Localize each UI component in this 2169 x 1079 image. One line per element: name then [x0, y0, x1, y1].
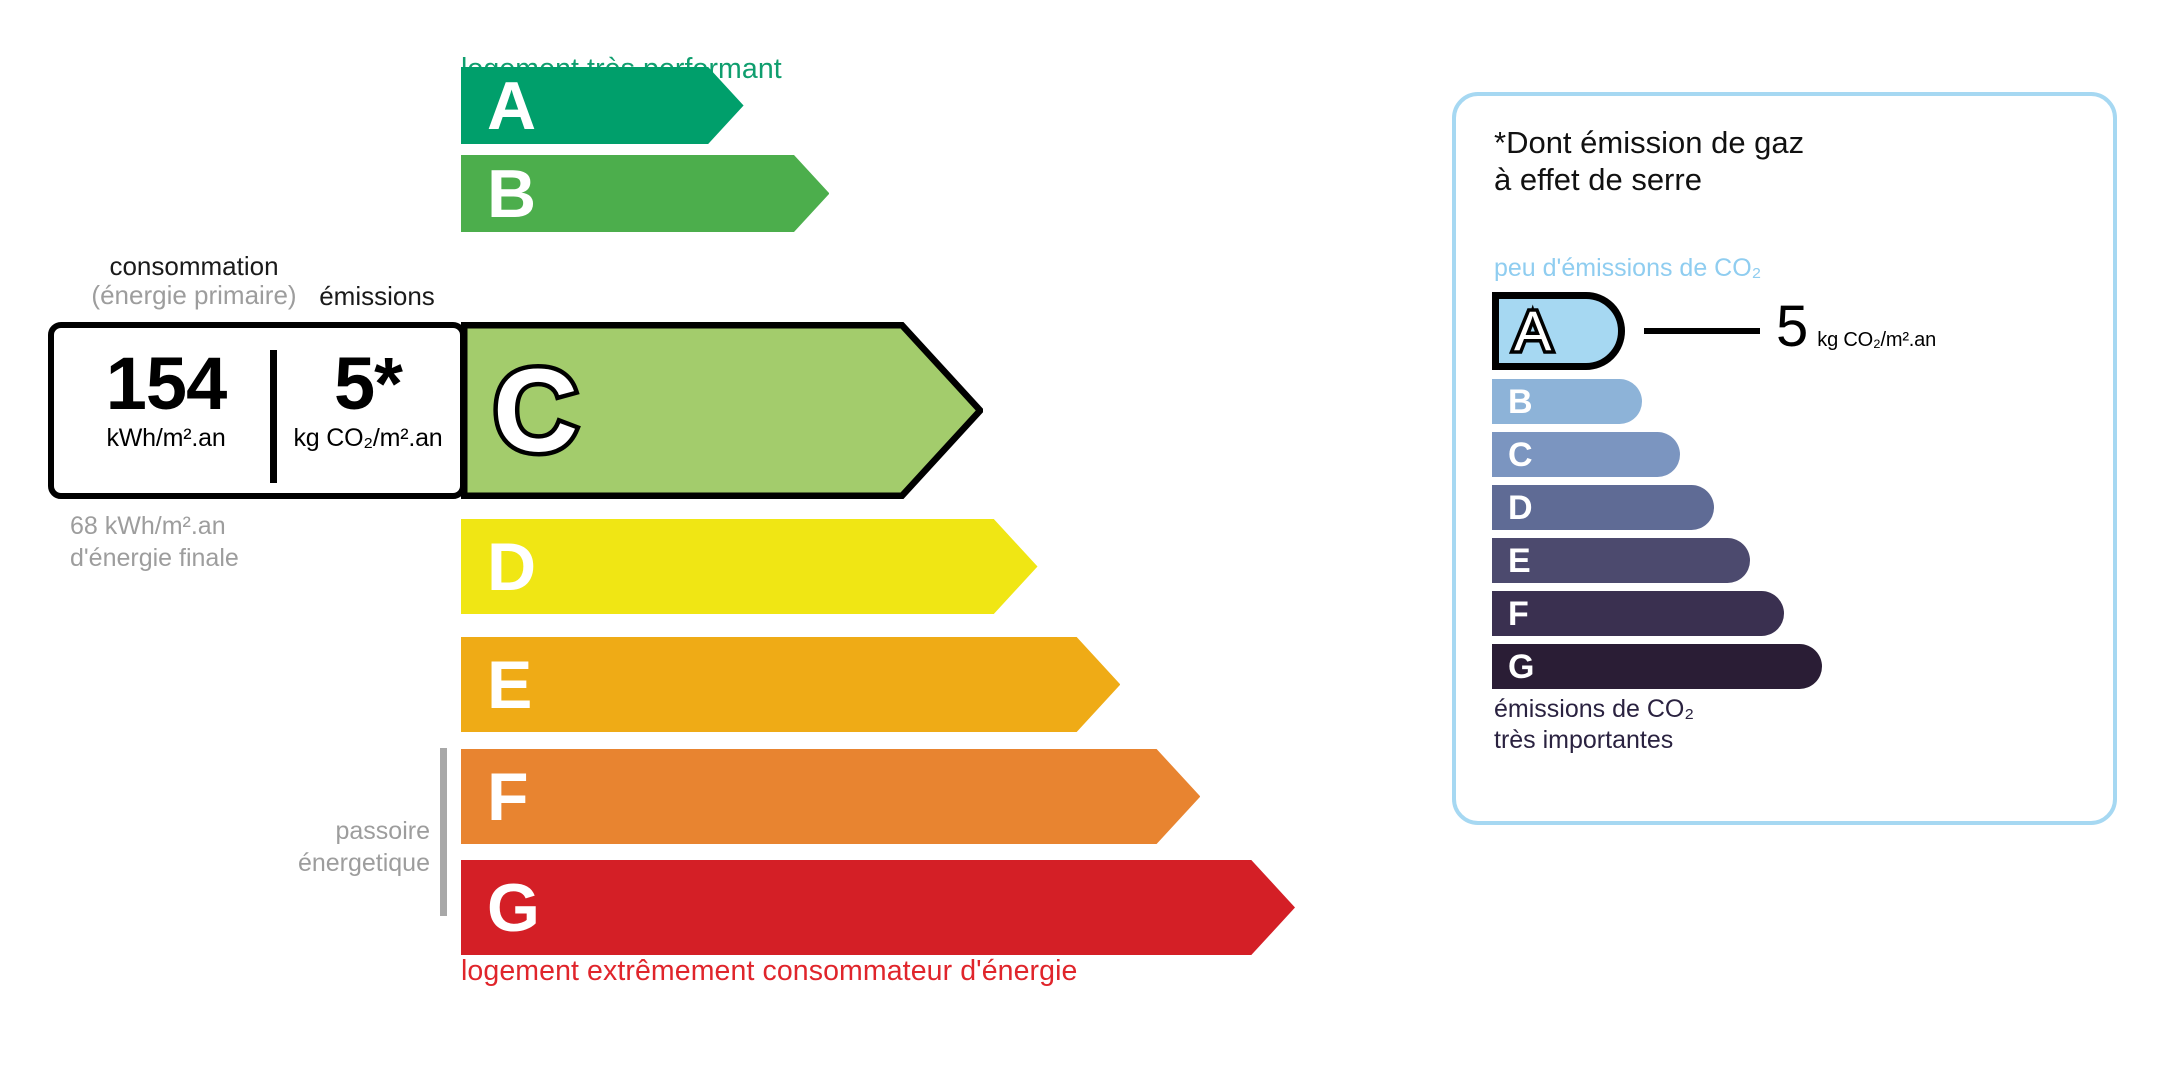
- energy-band-d: D: [461, 519, 1038, 614]
- energy-performance-diagram: logement très performant consommation (é…: [0, 0, 1380, 1079]
- co2-title-line1: *Dont émission de gaz: [1494, 124, 1924, 161]
- energy-band-b: B: [461, 155, 829, 232]
- co2-selected-letter: A: [1514, 303, 1551, 359]
- energy-band-f: F: [461, 749, 1200, 844]
- emissions-value-cell: 5* kg CO₂/m².an: [278, 348, 458, 453]
- co2-band-e: E: [1492, 538, 1750, 583]
- emissions-value: 5*: [278, 348, 458, 419]
- energy-band-a: A: [461, 67, 744, 144]
- co2-band-letter-c: C: [1508, 438, 1533, 472]
- energy-band-shape-f: [461, 749, 1200, 844]
- energy-band-letter-b: B: [487, 160, 536, 228]
- emissions-header: émissions: [302, 281, 452, 312]
- co2-unit: kg CO₂/m².an: [1817, 329, 1936, 351]
- co2-selected-badge-shape: [1492, 292, 1625, 370]
- co2-bottom-caption: émissions de CO₂ très importantes: [1494, 694, 1694, 757]
- energy-band-letter-d: D: [487, 533, 536, 601]
- co2-band-c: C: [1492, 432, 1680, 477]
- co2-value: 5: [1776, 294, 1808, 359]
- energy-band-c: C: [461, 322, 983, 499]
- emissions-unit: kg CO₂/m².an: [278, 424, 458, 453]
- passoire-label-line1: passoire: [240, 815, 430, 847]
- consumption-unit: kWh/m².an: [62, 424, 270, 453]
- co2-band-letter-b: B: [1508, 385, 1533, 419]
- co2-band-letter-e: E: [1508, 544, 1531, 578]
- co2-bottom-caption-line2: très importantes: [1494, 725, 1694, 756]
- co2-selected-row: A 5kg CO₂/m².an: [1492, 292, 1625, 370]
- co2-band-f: F: [1492, 591, 1784, 636]
- final-energy-value: 68 kWh/m².an: [70, 510, 400, 542]
- co2-panel-title: *Dont émission de gaz à effet de serre: [1494, 124, 1924, 198]
- energy-band-shape-e: [461, 637, 1120, 732]
- co2-top-caption: peu d'émissions de CO₂: [1494, 254, 1761, 283]
- co2-band-letter-g: G: [1508, 650, 1534, 684]
- co2-band-g: G: [1492, 644, 1822, 689]
- co2-band-d: D: [1492, 485, 1714, 530]
- co2-value-group: 5kg CO₂/m².an: [1776, 298, 1936, 356]
- passoire-label: passoire énergetique: [240, 815, 430, 879]
- value-box-divider: [270, 350, 277, 483]
- energy-band-letter-a: A: [487, 72, 536, 140]
- energy-band-letter-c: C: [493, 352, 578, 470]
- final-energy-note: 68 kWh/m².an d'énergie finale: [70, 510, 400, 574]
- energy-bottom-caption: logement extrêmement consommateur d'éner…: [461, 955, 1077, 988]
- energy-band-shape-d: [461, 519, 1038, 614]
- energy-band-g: G: [461, 860, 1295, 955]
- energy-band-letter-f: F: [487, 763, 529, 831]
- co2-band-letter-d: D: [1508, 491, 1533, 525]
- co2-bottom-caption-line1: émissions de CO₂: [1494, 694, 1694, 725]
- energy-band-e: E: [461, 637, 1120, 732]
- energy-value-box: 154 kWh/m².an 5* kg CO₂/m².an: [48, 322, 466, 499]
- co2-band-b: B: [1492, 379, 1642, 424]
- co2-title-line2: à effet de serre: [1494, 161, 1924, 198]
- consumption-header: consommation (énergie primaire): [64, 252, 324, 310]
- consumption-value-cell: 154 kWh/m².an: [62, 348, 270, 453]
- co2-connector-line: [1644, 328, 1760, 334]
- consumption-value: 154: [62, 348, 270, 419]
- co2-emissions-panel: *Dont émission de gaz à effet de serre p…: [1452, 92, 2117, 825]
- co2-selected-badge: A: [1492, 292, 1625, 370]
- passoire-bracket: [440, 748, 447, 916]
- consumption-header-sublabel: (énergie primaire): [64, 281, 324, 310]
- co2-band-letter-f: F: [1508, 597, 1529, 631]
- energy-band-letter-e: E: [487, 651, 532, 719]
- consumption-header-label: consommation: [109, 251, 278, 281]
- passoire-label-line2: énergetique: [240, 847, 430, 879]
- final-energy-label: d'énergie finale: [70, 542, 400, 574]
- energy-band-letter-g: G: [487, 874, 540, 942]
- energy-band-shape-g: [461, 860, 1295, 955]
